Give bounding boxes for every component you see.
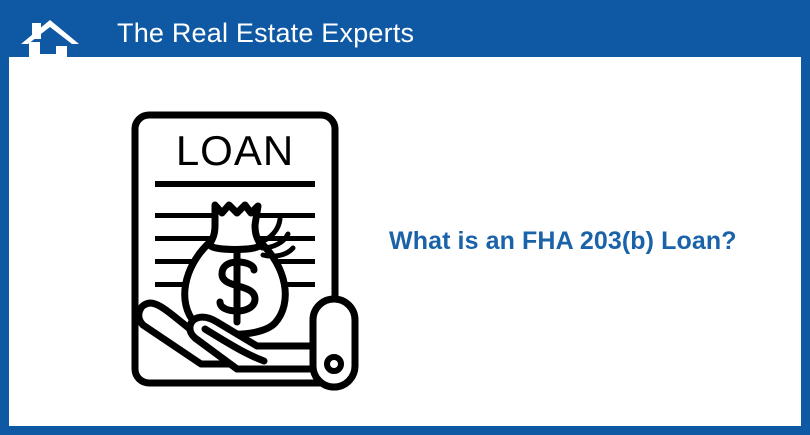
promo-banner: The Real Estate Experts LOAN bbox=[0, 0, 810, 435]
cuff-button bbox=[327, 357, 341, 371]
shirt-cuff bbox=[313, 299, 355, 387]
title-underline bbox=[155, 181, 315, 187]
banner-content: LOAN bbox=[9, 57, 801, 426]
loan-document-money-bag-hand-icon: LOAN bbox=[127, 107, 367, 392]
header-bar: The Real Estate Experts bbox=[9, 9, 801, 57]
header-title: The Real Estate Experts bbox=[117, 17, 414, 49]
document-heading: LOAN bbox=[176, 127, 294, 174]
headline-text: What is an FHA 203(b) Loan? bbox=[389, 225, 789, 257]
